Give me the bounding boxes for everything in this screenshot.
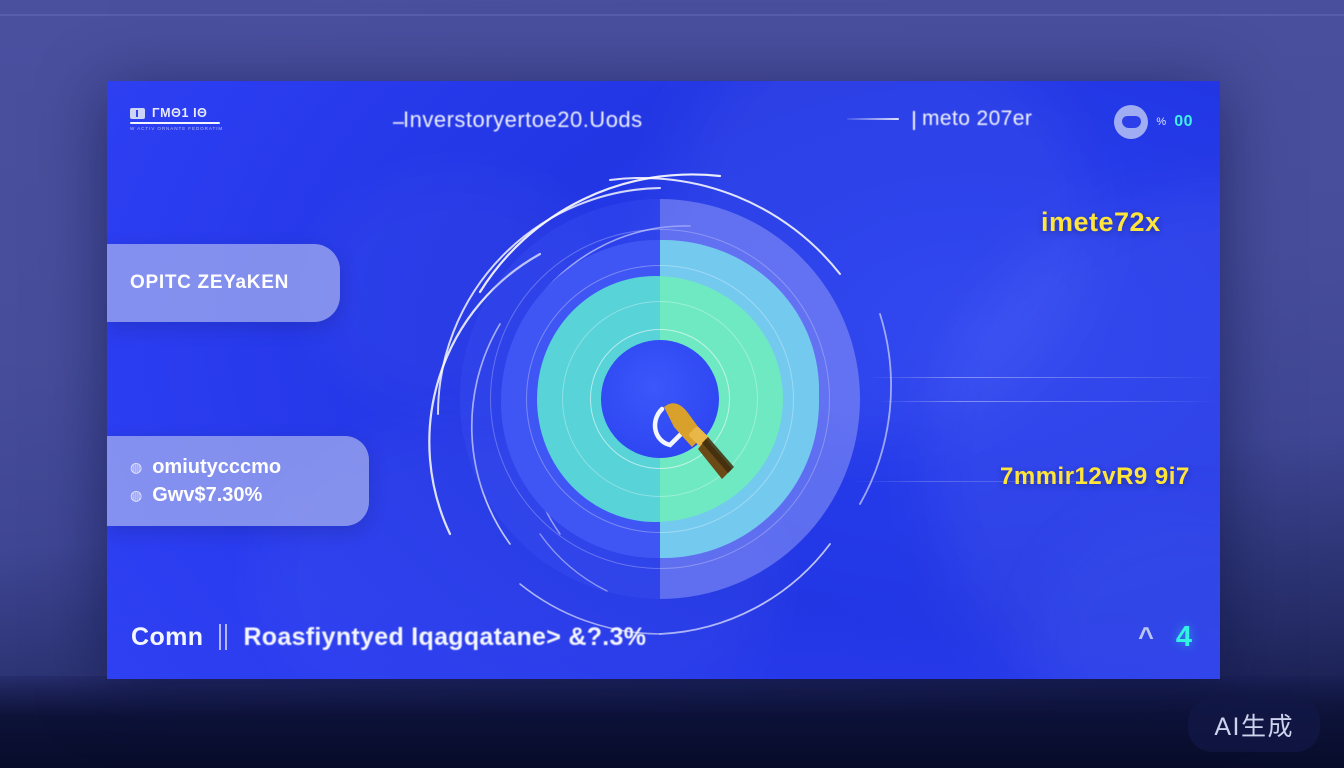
outer-top-divider — [0, 14, 1344, 16]
radial-scan-graphic — [460, 199, 860, 599]
bottom-status-bar: Comn Roasfiyntyed Iqagqatane> &?.3% ^ 4 — [107, 595, 1220, 679]
bottom-right-group: ^ 4 — [1138, 623, 1192, 652]
outer-bottom-band — [0, 676, 1344, 768]
bullet-icon: ◍ — [130, 459, 142, 476]
header-dash-decor — [847, 118, 899, 120]
side-card-line-text: omiutycccmo — [152, 456, 281, 479]
count-badge-four[interactable]: 4 — [1176, 623, 1192, 652]
side-card-line: ◍ Gwv$7.30% — [130, 484, 369, 507]
decor-hairline-1 — [867, 377, 1220, 378]
header-secondary-group: meto 207er — [847, 107, 1032, 131]
bottom-status-text: Roasfiyntyed Iqagqatane> &?.3% — [243, 623, 646, 652]
page-title: Inverstoryertoe20.Uods — [403, 107, 643, 133]
screenshot-stage: ΓМΘ1 ΙΘ W ACTIV ORNANTE FEDORATIM Invers… — [0, 0, 1344, 768]
brand-row: ΓМΘ1 ΙΘ — [130, 106, 222, 120]
app-frame: ΓМΘ1 ΙΘ W ACTIV ORNANTE FEDORATIM Invers… — [107, 81, 1220, 679]
user-avatar-icon[interactable] — [1114, 105, 1148, 139]
bullet-icon: ◍ — [130, 487, 142, 504]
account-glyph-icon: % — [1156, 116, 1166, 128]
chevron-up-icon[interactable]: ^ — [1138, 624, 1154, 651]
golden-key-pointer-icon — [648, 387, 758, 497]
side-card-secondary[interactable]: ◍ omiutycccmo ◍ Gwv$7.30% — [107, 436, 369, 526]
ai-generated-watermark: AI生成 — [1188, 698, 1320, 752]
logo-square-icon — [130, 108, 145, 119]
bottom-left-group: Comn Roasfiyntyed Iqagqatane> &?.3% — [131, 623, 646, 652]
brand-subtext: W ACTIV ORNANTE FEDORATIM — [130, 126, 222, 131]
bottom-divider — [219, 624, 227, 650]
bottom-brand-label: Comn — [131, 623, 203, 652]
app-header: ΓМΘ1 ΙΘ W ACTIV ORNANTE FEDORATIM Invers… — [107, 81, 1220, 163]
account-count-badge: 00 — [1174, 113, 1193, 131]
avatar-inner-shape — [1122, 116, 1141, 128]
highlight-primary: imete72x — [1041, 207, 1161, 238]
side-card-primary-label: OPITC ZEYaKEN — [130, 272, 340, 294]
header-secondary-label: meto 207er — [913, 107, 1032, 131]
side-card-line-text: Gwv$7.30% — [152, 484, 262, 507]
highlight-secondary: 7mmir12vR9 9i7 — [1000, 463, 1190, 491]
brand-underline — [130, 122, 220, 124]
brand-logo[interactable]: ΓМΘ1 ΙΘ W ACTIV ORNANTE FEDORATIM — [130, 106, 222, 131]
account-group[interactable]: % 00 — [1114, 105, 1193, 139]
side-card-line: ◍ omiutycccmo — [130, 456, 369, 479]
decor-hairline-2 — [877, 401, 1220, 402]
side-card-primary[interactable]: OPITC ZEYaKEN — [107, 244, 340, 322]
brand-wordmark: ΓМΘ1 ΙΘ — [152, 106, 207, 120]
